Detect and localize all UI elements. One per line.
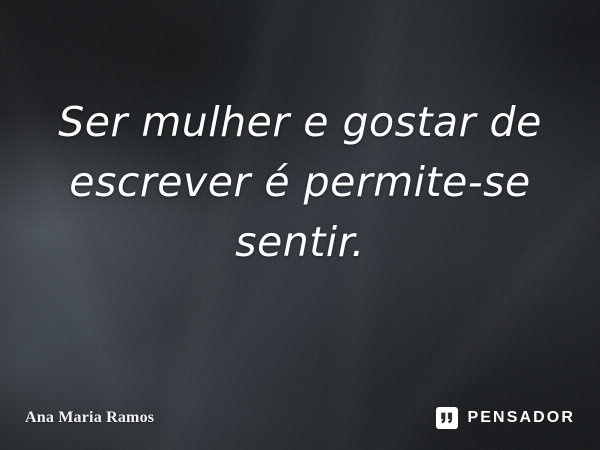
author-name[interactable]: Ana Maria Ramos [25, 409, 154, 427]
quote-line-2: escrever é permite-se [44, 152, 556, 212]
quote-line-1: Ser mulher e gostar de [44, 92, 556, 152]
brand-wordmark: PENSADOR [468, 409, 575, 427]
quote-mark-icon [436, 407, 458, 429]
pensador-logo[interactable]: PENSADOR [436, 407, 575, 429]
card-footer: Ana Maria Ramos PENSADOR [0, 394, 600, 450]
quote-line-3: sentir. [44, 212, 556, 272]
quote-card: Ser mulher e gostar de escrever é permit… [0, 0, 600, 450]
quote-text: Ser mulher e gostar de escrever é permit… [0, 92, 600, 272]
